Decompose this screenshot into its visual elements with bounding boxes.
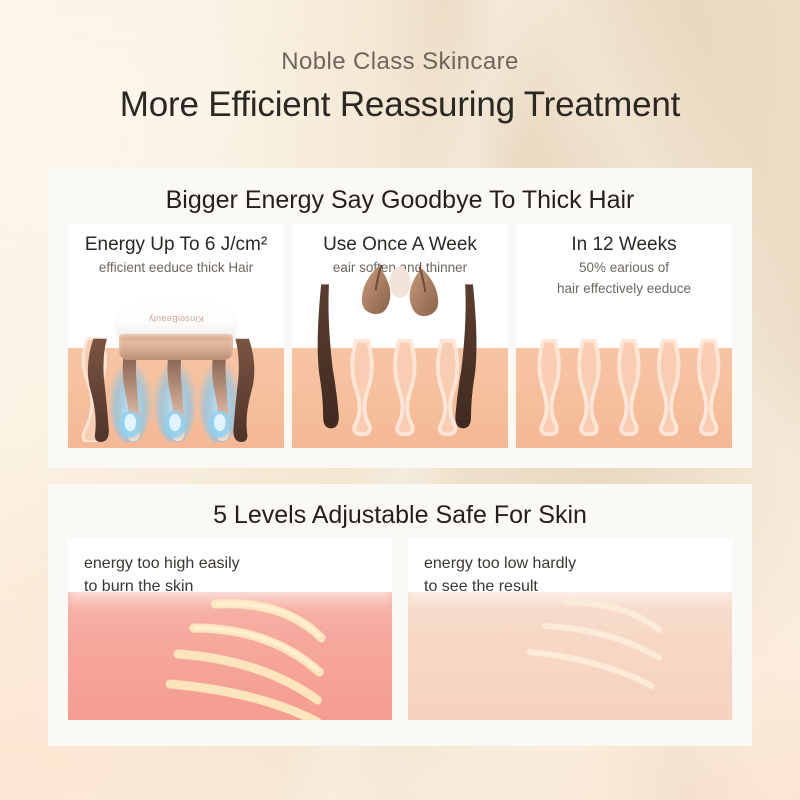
energy-waves-weak [408, 592, 732, 720]
card-5-levels: 5 Levels Adjustable Safe For Skin energy… [48, 484, 752, 746]
follicle-illustration-clear [516, 224, 732, 442]
panel-high-line2: to burn the skin [84, 575, 392, 598]
card2-panels: energy too high easily to burn the skin [68, 538, 732, 720]
device-brand-logo: KinseiBeauty [117, 314, 235, 324]
panel-energy-up-to: Energy Up To 6 J/cm² efficient eeduce th… [68, 224, 284, 448]
device-copper-band [119, 334, 233, 360]
panel-in-12-weeks: In 12 Weeks 50% earious of hair effectiv… [516, 224, 732, 448]
card1-panels: Energy Up To 6 J/cm² efficient eeduce th… [68, 224, 732, 448]
hair-removal-device: KinseiBeauty [117, 304, 235, 360]
irritated-skin [68, 592, 392, 720]
card-bigger-energy: Bigger Energy Say Goodbye To Thick Hair … [48, 168, 752, 468]
card2-title: 5 Levels Adjustable Safe For Skin [48, 484, 752, 530]
infographic-page: Noble Class Skincare More Efficient Reas… [0, 0, 800, 800]
panel-low-line1: energy too low hardly [424, 552, 732, 575]
panel-high-caption: energy too high easily to burn the skin [68, 538, 392, 598]
panel-low-caption: energy too low hardly to see the result [408, 538, 732, 598]
panel-high-line1: energy too high easily [84, 552, 392, 575]
card1-title: Bigger Energy Say Goodbye To Thick Hair [48, 168, 752, 215]
panel-energy-too-high: energy too high easily to burn the skin [68, 538, 392, 720]
page-title: More Efficient Reassuring Treatment [0, 85, 800, 125]
panel-use-once-a-week: Use Once A Week eair soften and thinner [292, 224, 508, 448]
follicle-illustration-shedding [292, 224, 508, 442]
kicker-text: Noble Class Skincare [0, 48, 800, 76]
panel-energy-too-low: energy too low hardly to see the result [408, 538, 732, 720]
energy-waves-strong [68, 592, 392, 720]
device-body: KinseiBeauty [117, 304, 235, 338]
calm-skin [408, 592, 732, 720]
panel-low-line2: to see the result [424, 575, 732, 598]
